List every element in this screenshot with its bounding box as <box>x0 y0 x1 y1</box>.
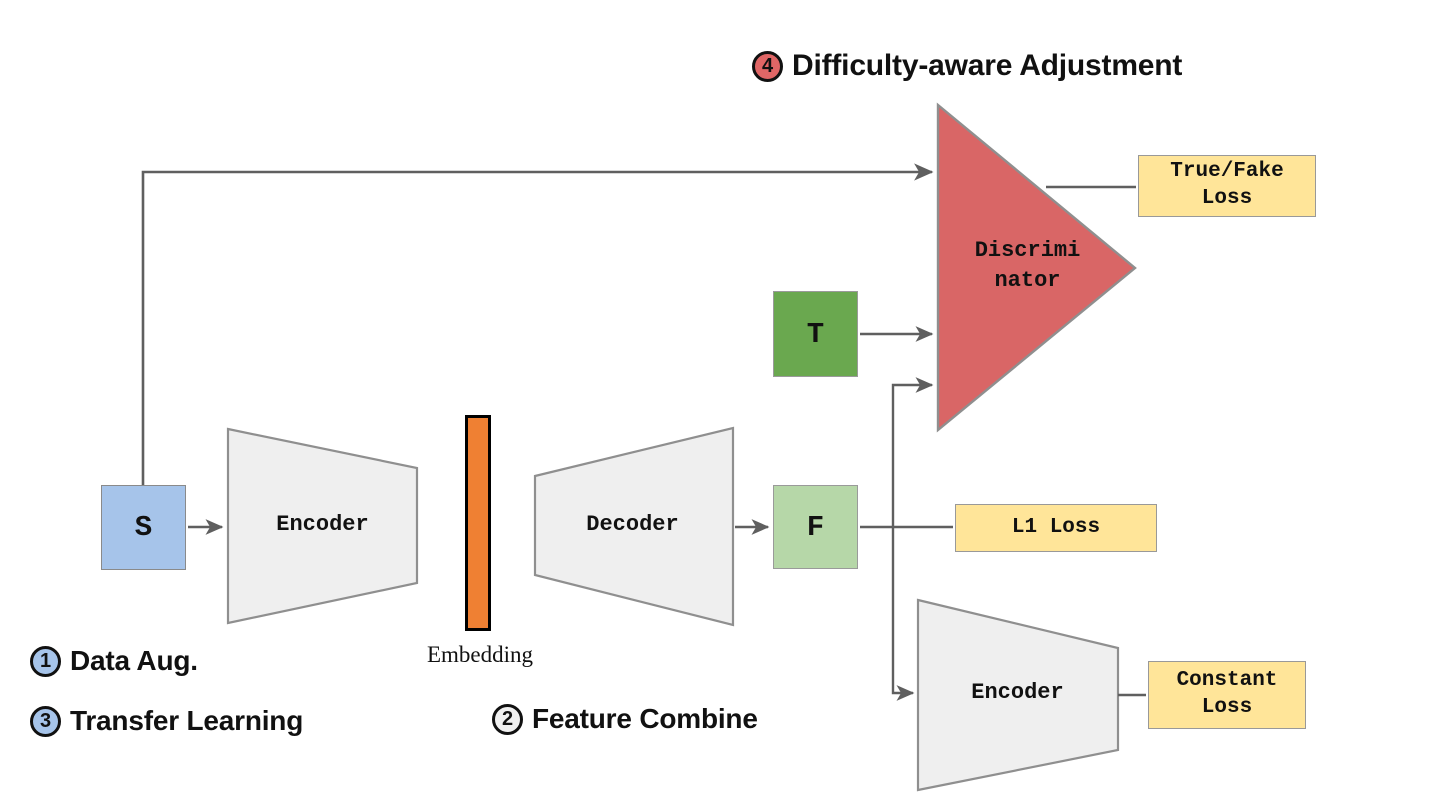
wire-f-branch-to-encoder2 <box>893 527 913 693</box>
constant-loss-line1: Constant <box>1177 668 1278 695</box>
target-block[interactable]: T <box>773 291 858 377</box>
callout-feature-combine: 2 Feature Combine <box>492 703 758 735</box>
callout-label-4: Difficulty-aware Adjustment <box>792 49 1182 83</box>
callout-label-2: Feature Combine <box>532 703 758 735</box>
callout-badge-2: 2 <box>492 704 523 735</box>
encoder-1-label: Encoder <box>235 512 410 537</box>
callout-transfer-learning: 3 Transfer Learning <box>30 705 303 737</box>
constant-loss-box[interactable]: Constant Loss <box>1148 661 1306 729</box>
diagram-canvas: S T F Embedding Encoder Decoder Encoder … <box>0 0 1450 806</box>
discriminator-label-line1: Discrimi <box>940 236 1115 266</box>
l1-loss-box[interactable]: L1 Loss <box>955 504 1157 552</box>
callout-badge-4: 4 <box>752 51 783 82</box>
callout-data-aug: 1 Data Aug. <box>30 645 198 677</box>
embedding-bar[interactable] <box>465 415 491 631</box>
true-fake-loss-line2: Loss <box>1170 186 1283 213</box>
source-block[interactable]: S <box>101 485 186 570</box>
encoder-2-label: Encoder <box>930 680 1105 705</box>
callout-difficulty-aware-adjustment: 4 Difficulty-aware Adjustment <box>752 49 1182 83</box>
callout-badge-1: 1 <box>30 646 61 677</box>
callout-label-1: Data Aug. <box>70 645 198 677</box>
embedding-label: Embedding <box>400 642 560 672</box>
fake-block[interactable]: F <box>773 485 858 569</box>
decoder-label: Decoder <box>545 512 720 537</box>
callout-badge-3: 3 <box>30 706 61 737</box>
wire-f-branch-to-discriminator <box>893 385 932 527</box>
discriminator-label-line2: nator <box>940 266 1115 296</box>
callout-label-3: Transfer Learning <box>70 705 303 737</box>
discriminator-label: Discrimi nator <box>940 236 1115 296</box>
true-fake-loss-box[interactable]: True/Fake Loss <box>1138 155 1316 217</box>
constant-loss-line2: Loss <box>1177 695 1278 722</box>
true-fake-loss-line1: True/Fake <box>1170 159 1283 186</box>
